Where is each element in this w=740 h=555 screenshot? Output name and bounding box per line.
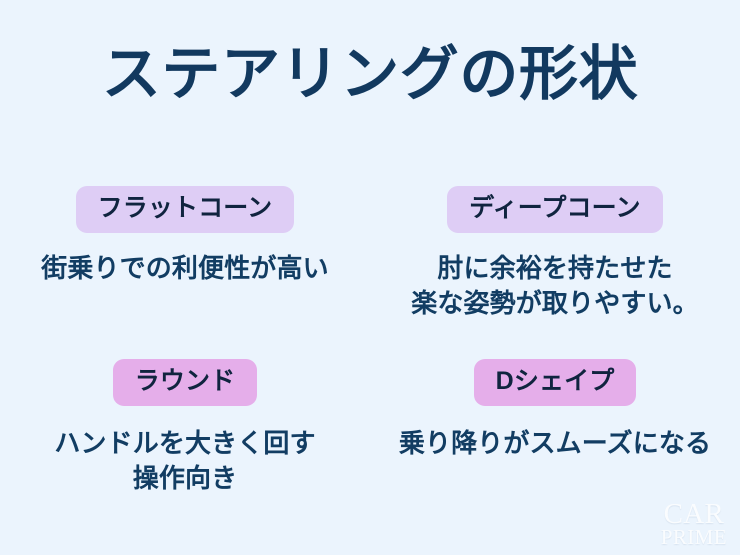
badge-d-shape: Dシェイプ [474, 359, 637, 406]
watermark-logo: CAR PRIME [661, 501, 727, 547]
badge-flat-cone: フラットコーン [76, 186, 295, 233]
steering-shape-grid: フラットコーン 街乗りでの利便性が高い ディープコーン 肘に余裕を持たせた 楽な… [0, 186, 740, 526]
description-d-shape: 乗り降りがスムーズになる [370, 426, 740, 461]
description-flat-cone: 街乗りでの利便性が高い [0, 251, 370, 286]
badge-deep-cone: ディープコーン [447, 186, 662, 233]
description-round: ハンドルを大きく回す 操作向き [0, 426, 370, 495]
shape-item-round: ラウンド ハンドルを大きく回す 操作向き [0, 359, 370, 495]
shape-item-d-shape: Dシェイプ 乗り降りがスムーズになる [370, 359, 740, 461]
description-deep-cone: 肘に余裕を持たせた 楽な姿勢が取りやすい。 [370, 251, 740, 320]
watermark-line-1: CAR [661, 501, 727, 528]
watermark-line-2: PRIME [661, 528, 727, 547]
slide-canvas: ステアリングの形状 フラットコーン 街乗りでの利便性が高い ディープコーン 肘に… [0, 0, 740, 555]
shape-item-deep-cone: ディープコーン 肘に余裕を持たせた 楽な姿勢が取りやすい。 [370, 186, 740, 320]
page-title: ステアリングの形状 [0, 44, 740, 106]
badge-round: ラウンド [113, 359, 258, 406]
shape-item-flat-cone: フラットコーン 街乗りでの利便性が高い [0, 186, 370, 286]
